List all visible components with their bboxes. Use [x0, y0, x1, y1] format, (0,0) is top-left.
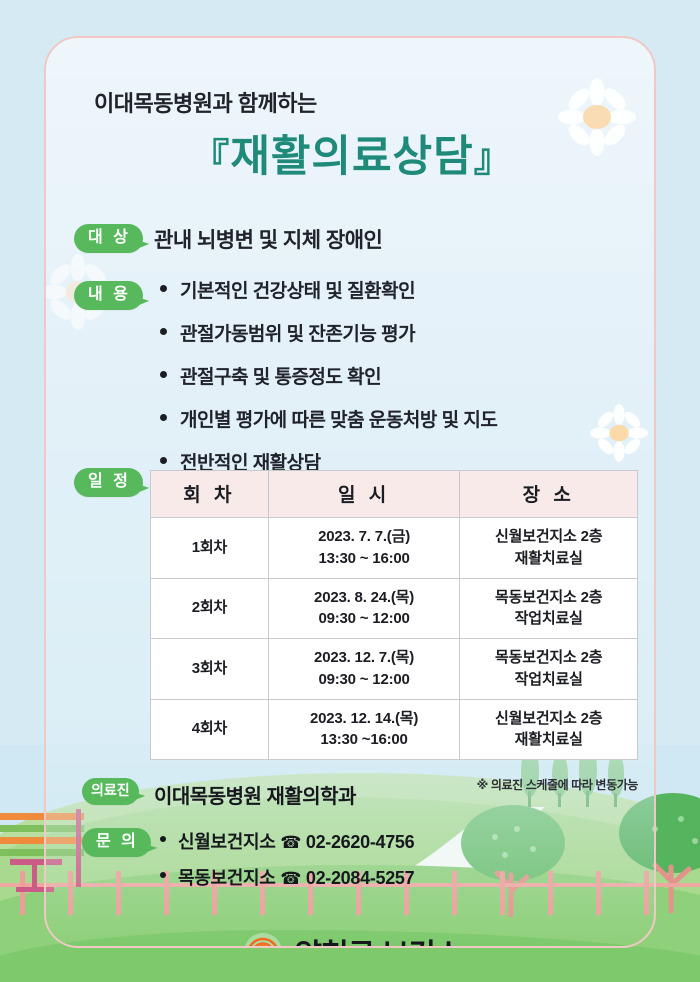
- table-row: 1회차 2023. 7. 7.(금) 13:30 ~ 16:00 신월보건지소 …: [151, 518, 638, 579]
- cell-session: 4회차: [151, 699, 269, 760]
- cell-datetime: 2023. 12. 14.(목) 13:30 ~16:00: [268, 699, 460, 760]
- cell-datetime: 2023. 7. 7.(금) 13:30 ~ 16:00: [268, 518, 460, 579]
- column-header-datetime: 일 시: [268, 471, 460, 518]
- poster-subtitle: 이대목동병원과 함께하는: [94, 86, 317, 118]
- cell-datetime: 2023. 12. 7.(목) 09:30 ~ 12:00: [268, 639, 460, 700]
- content-badge-wrap: 내 용: [74, 281, 143, 310]
- doctor-badge-wrap: 의료진: [82, 778, 139, 805]
- cell-date: 2023. 12. 7.(목): [269, 647, 460, 669]
- column-header-session: 회 차: [151, 471, 269, 518]
- cell-place: 신월보건지소 2층 재활치료실: [460, 518, 638, 579]
- cell-session: 2회차: [151, 578, 269, 639]
- title-main-text: 재활의료상담: [230, 133, 473, 181]
- cell-place: 신월보건지소 2층 재활치료실: [460, 699, 638, 760]
- cell-place-line2: 재활치료실: [460, 548, 637, 570]
- cell-place-line1: 목동보건지소 2층: [460, 647, 637, 669]
- cell-place-line2: 작업치료실: [460, 608, 637, 630]
- table-header-row: 회 차 일 시 장 소: [151, 471, 638, 518]
- contact-tel: 02-2620-4756: [306, 832, 415, 852]
- yangcheon-health-center-logo-icon: [243, 932, 283, 948]
- target-badge-wrap: 대 상: [74, 224, 143, 253]
- telephone-icon: ☎: [280, 833, 301, 852]
- list-item: 목동보건지소 ☎ 02-2084-5257: [158, 864, 414, 890]
- cell-session: 3회차: [151, 639, 269, 700]
- cell-time: 09:30 ~ 12:00: [269, 669, 460, 691]
- content-list: 기본적인 건강상태 및 질환확인 관절가동범위 및 잔존기능 평가 관절구축 및…: [158, 276, 497, 491]
- title-bracket-open: 『: [191, 138, 230, 180]
- column-header-place: 장 소: [460, 471, 638, 518]
- badge-schedule: 일 정: [74, 468, 143, 497]
- table-row: 4회차 2023. 12. 14.(목) 13:30 ~16:00 신월보건지소…: [151, 699, 638, 760]
- cell-place: 목동보건지소 2층 작업치료실: [460, 578, 638, 639]
- page-title: 『재활의료상담』: [46, 122, 656, 184]
- title-bracket-close: 』: [474, 138, 513, 180]
- poster-card: 이대목동병원과 함께하는 『재활의료상담』 대 상 관내 뇌병변 및 지체 장애…: [44, 36, 656, 948]
- contact-badge-wrap: 문 의: [82, 828, 151, 857]
- badge-doctor: 의료진: [82, 778, 139, 805]
- badge-contact: 문 의: [82, 828, 151, 857]
- list-item: 관절구축 및 통증정도 확인: [158, 362, 497, 389]
- badge-target: 대 상: [74, 224, 143, 253]
- list-item: 개인별 평가에 따른 맞춤 운동처방 및 지도: [158, 405, 497, 432]
- cell-date: 2023. 12. 14.(목): [269, 708, 460, 730]
- cell-place-line1: 신월보건지소 2층: [460, 526, 637, 548]
- contact-list: 신월보건지소 ☎ 02-2620-4756 목동보건지소 ☎ 02-2084-5…: [158, 828, 414, 900]
- poster-root: 이대목동병원과 함께하는 『재활의료상담』 대 상 관내 뇌병변 및 지체 장애…: [0, 0, 700, 982]
- schedule-table: 회 차 일 시 장 소 1회차 2023. 7. 7.(금) 13:30 ~ 1…: [150, 470, 638, 760]
- cell-place: 목동보건지소 2층 작업치료실: [460, 639, 638, 700]
- cell-place-line2: 재활치료실: [460, 729, 637, 751]
- target-text: 관내 뇌병변 및 지체 장애인: [154, 224, 382, 254]
- cell-place-line2: 작업치료실: [460, 669, 637, 691]
- contact-place: 신월보건지소: [178, 832, 276, 852]
- telephone-icon: ☎: [280, 869, 301, 888]
- cell-date: 2023. 7. 7.(금): [269, 526, 460, 548]
- list-item: 신월보건지소 ☎ 02-2620-4756: [158, 828, 414, 854]
- cell-time: 13:30 ~16:00: [269, 729, 460, 751]
- contact-tel: 02-2084-5257: [306, 868, 415, 888]
- badge-content: 내 용: [74, 281, 143, 310]
- cell-place-line1: 목동보건지소 2층: [460, 587, 637, 609]
- cell-datetime: 2023. 8. 24.(목) 09:30 ~ 12:00: [268, 578, 460, 639]
- cell-session: 1회차: [151, 518, 269, 579]
- daisy-flower-icon: [590, 404, 648, 462]
- doctor-text: 이대목동병원 재활의학과: [154, 780, 356, 809]
- cell-time: 09:30 ~ 12:00: [269, 608, 460, 630]
- table-row: 2회차 2023. 8. 24.(목) 09:30 ~ 12:00 목동보건지소…: [151, 578, 638, 639]
- contact-place: 목동보건지소: [178, 868, 276, 888]
- cell-place-line1: 신월보건지소 2층: [460, 708, 637, 730]
- footer-logo: 양천구 보건소: [46, 930, 656, 948]
- table-row: 3회차 2023. 12. 7.(목) 09:30 ~ 12:00 목동보건지소…: [151, 639, 638, 700]
- list-item: 관절가동범위 및 잔존기능 평가: [158, 319, 497, 346]
- list-item: 기본적인 건강상태 및 질환확인: [158, 276, 497, 303]
- logo-text: 양천구 보건소: [295, 930, 462, 948]
- schedule-badge-wrap: 일 정: [74, 468, 143, 497]
- cell-time: 13:30 ~ 16:00: [269, 548, 460, 570]
- cell-date: 2023. 8. 24.(목): [269, 587, 460, 609]
